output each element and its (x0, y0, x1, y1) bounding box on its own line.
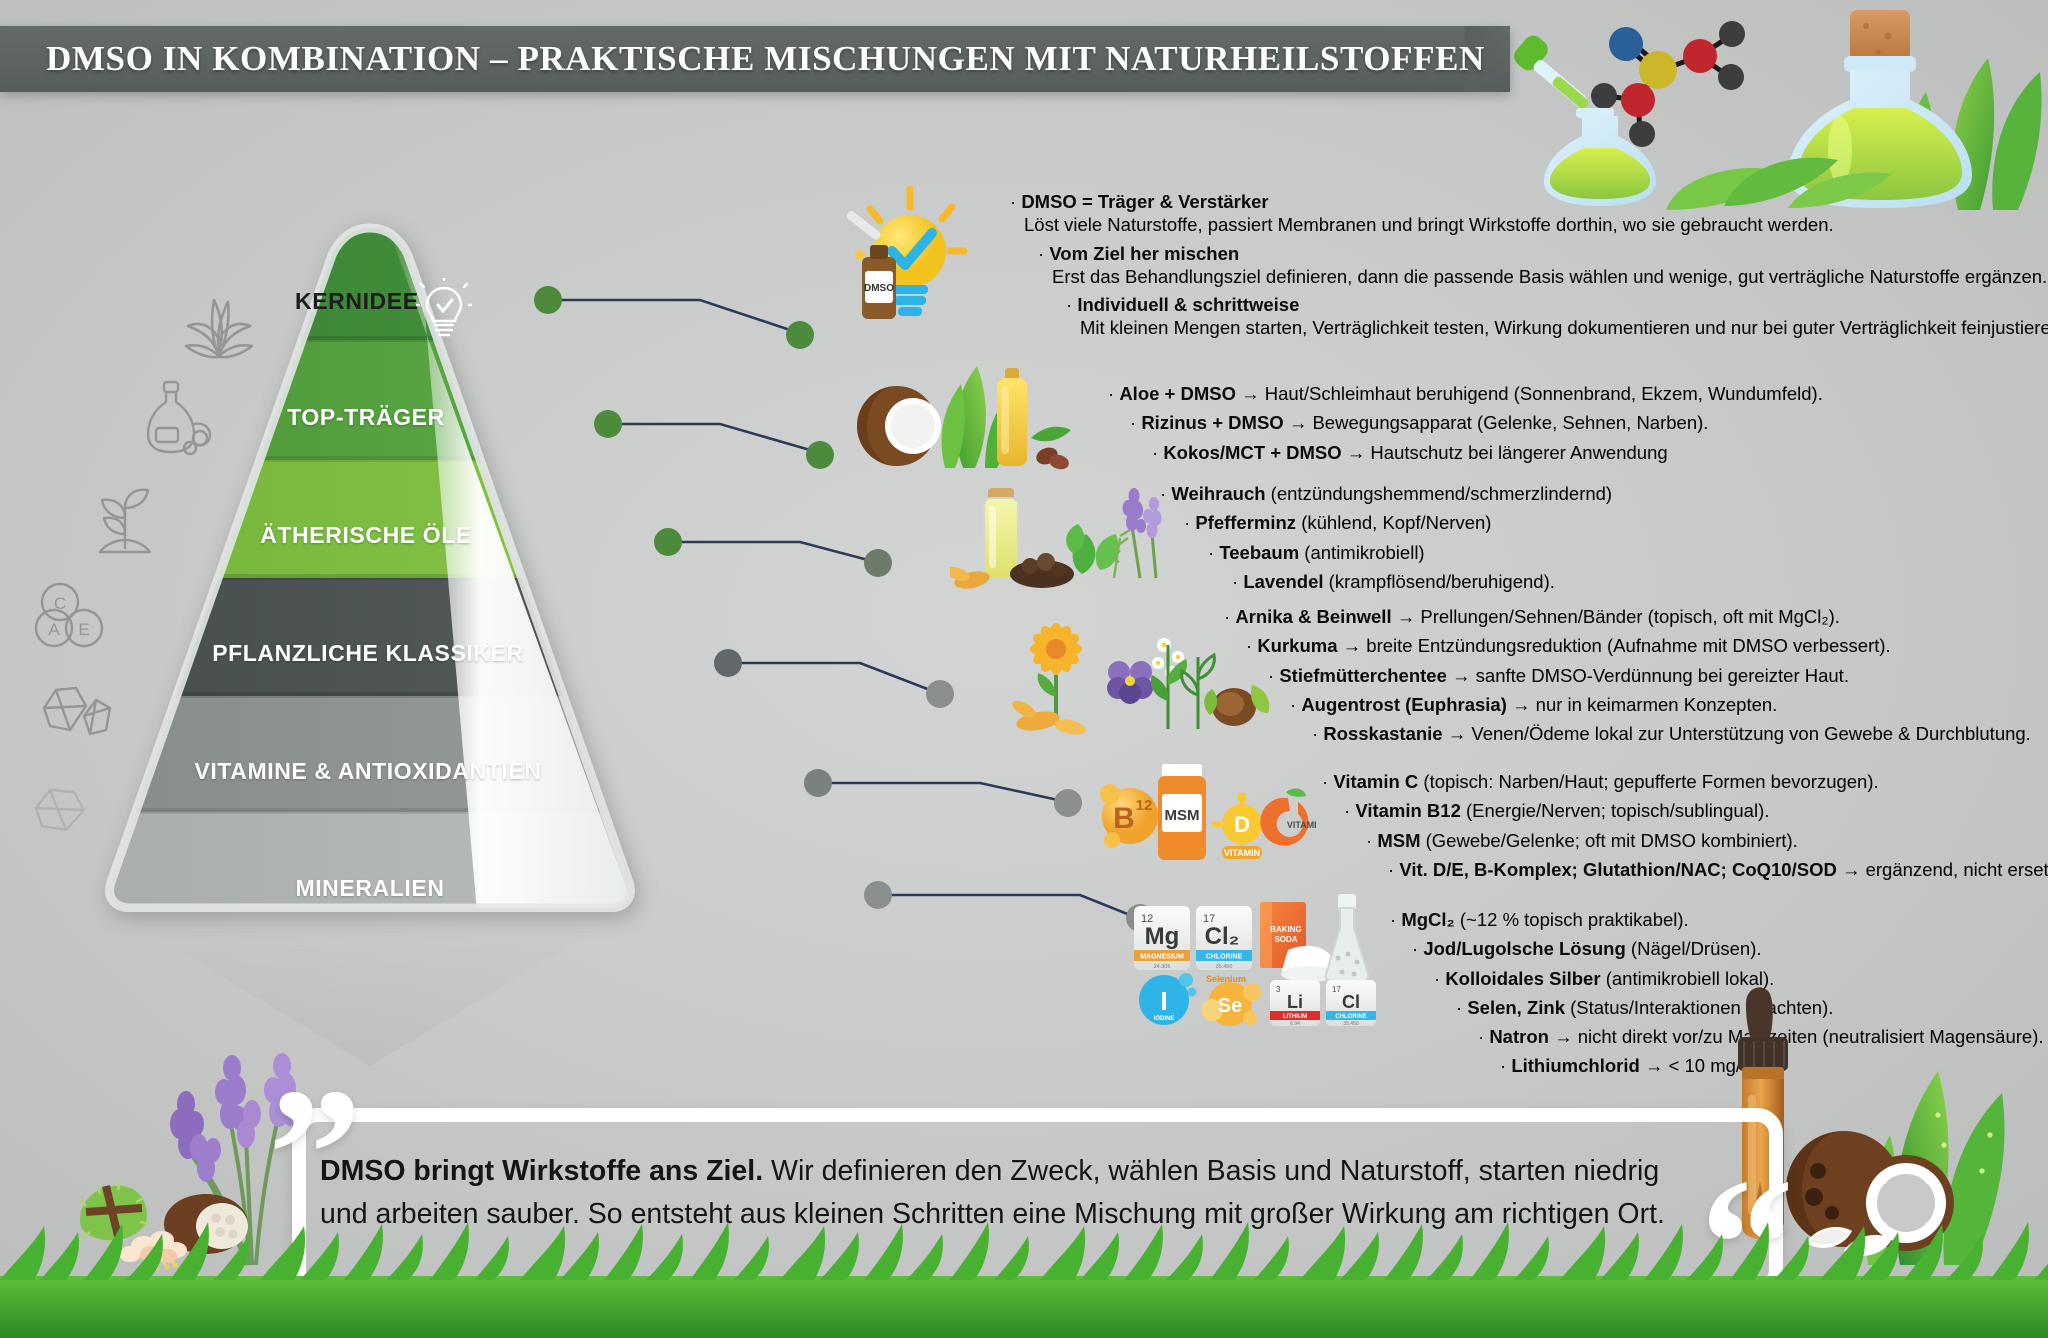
element-card-mg: 12 Mg MAGNESIUM 24.305 (1134, 906, 1190, 970)
svg-text:Cl: Cl (1342, 992, 1360, 1012)
quote-rest: Wir definieren den Zweck, wählen Basis u… (763, 1155, 1659, 1187)
svg-text:A: A (48, 620, 60, 639)
minerals-crystal-faded-icon (28, 780, 108, 851)
svg-text:IODINE: IODINE (1154, 1016, 1175, 1022)
bullet-item: · Aloe + DMSO → Haut/Schleimhaut beruhig… (1108, 382, 1823, 405)
grass-footer (0, 1218, 2048, 1338)
svg-text:Cl₂: Cl₂ (1205, 923, 1240, 950)
svg-text:CHLORINE: CHLORINE (1206, 954, 1243, 961)
svg-text:Se: Se (1218, 995, 1242, 1017)
selenium-icon: Selenium Se (1201, 974, 1261, 1026)
bullet-item: · Rosskastanie → Venen/Ödeme lokal zur U… (1312, 722, 2031, 745)
tier-label-kernidee: KERNIDEE (295, 288, 419, 315)
bullet-title: DMSO = Träger & Verstärker (1021, 191, 1268, 212)
bullet-title: Vitamin B12 (1355, 800, 1461, 821)
tier-label-mineralien: MINERALIEN (260, 875, 480, 902)
infographic-canvas: DMSO IN KOMBINATION – PRAKTISCHE MISCHUN… (0, 0, 2048, 1338)
svg-text:SODA: SODA (1274, 935, 1297, 944)
bullet-item: · Stiefmütterchentee → sanfte DMSO-Verdü… (1268, 664, 2031, 687)
bullet-title: Aloe + DMSO (1119, 383, 1236, 404)
bullet-item: · Teebaum (antimikrobiell) (1208, 541, 1612, 564)
svg-text:LITHIUM: LITHIUM (1283, 1014, 1307, 1020)
erlenmeyer-flask-icon (1326, 894, 1369, 984)
svg-text:B: B (1113, 802, 1135, 835)
minerals-mg-cl-i-se-li-icon: 12 Mg MAGNESIUM 24.305 17 Cl₂ CHLORINE 3… (1130, 888, 1410, 1033)
vitamins-cae-icon: C A E (30, 578, 110, 659)
bullet-title: Pfefferminz (1195, 512, 1296, 533)
bullet-title: Stiefmütterchentee (1279, 665, 1447, 686)
svg-text:DMSO: DMSO (864, 283, 894, 294)
bullet-sub: Löst viele Naturstoffe, passiert Membran… (1024, 213, 2048, 236)
bullet-title: Kurkuma (1257, 635, 1337, 656)
element-card-cl2: 17 Cl₂ CHLORINE 35.450 (1196, 906, 1252, 970)
bullet-title: Weihrauch (1171, 483, 1265, 504)
bullet-title: Rizinus + DMSO (1141, 412, 1283, 433)
bullet-item: · DMSO = Träger & Verstärker (1010, 190, 2048, 213)
bullet-title: Lavendel (1243, 571, 1323, 592)
svg-text:VITAMIN: VITAMIN (1287, 820, 1316, 830)
svg-text:C: C (54, 594, 66, 613)
tier-label-top-traeger: TOP-TRÄGER (246, 404, 486, 431)
bullet-item: · Kurkuma → breite Entzündungsreduktion … (1246, 634, 2031, 657)
bullet-title: MSM (1377, 830, 1420, 851)
bullet-item: · MgCl₂ (~12 % topisch praktikabel). (1390, 908, 2044, 931)
bullet-title: Augentrost (Euphrasia) (1301, 694, 1507, 715)
svg-text:D: D (1234, 812, 1250, 837)
content-block-kernidee: · DMSO = Träger & Verstärker Löst viele … (1010, 190, 2048, 340)
bullet-item: · Arnika & Beinwell → Prellungen/Sehnen/… (1224, 605, 2031, 628)
bullet-rest: (krampflösend/beruhigend). (1324, 571, 1555, 592)
bullet-title: Individuell & schrittweise (1077, 294, 1299, 315)
svg-text:MAGNESIUM: MAGNESIUM (1140, 954, 1184, 961)
bullet-rest: → Haut/Schleimhaut beruhigend (Sonnenbra… (1236, 383, 1823, 404)
svg-text:Mg: Mg (1145, 923, 1180, 950)
lightbulb-check-icon (416, 278, 472, 345)
svg-text:BAKING: BAKING (1270, 925, 1302, 934)
tier-label-vitamine: VITAMINE & ANTIOXIDANTIEN (158, 758, 578, 785)
svg-text:CHLORINE: CHLORINE (1335, 1014, 1366, 1020)
bullet-rest: → Bewegungsapparat (Gelenke, Sehnen, Nar… (1284, 412, 1709, 433)
bullet-title: Vitamin C (1333, 771, 1418, 792)
bullet-rest: → breite Entzündungsreduktion (Aufnahme … (1338, 635, 1891, 656)
iodine-icon: I IODINE (1139, 973, 1197, 1025)
bullet-item: · Pfefferminz (kühlend, Kopf/Nerven) (1184, 511, 1612, 534)
bullet-rest: (Gewebe/Gelenke; oft mit DMSO kombiniert… (1420, 830, 1797, 851)
bullet-item: · MSM (Gewebe/Gelenke; oft mit DMSO komb… (1366, 829, 2048, 852)
svg-text:MSM: MSM (1165, 807, 1200, 824)
svg-text:17: 17 (1332, 985, 1341, 994)
bullet-title: Natron (1489, 1026, 1549, 1047)
bullet-item: · Jod/Lugolsche Lösung (Nägel/Drüsen). (1412, 937, 2044, 960)
minerals-crystal-icon (36, 678, 116, 753)
essential-oil-herbs-icon (950, 482, 1170, 597)
bullet-item: · Rizinus + DMSO → Bewegungsapparat (Gel… (1130, 411, 1823, 434)
bullet-rest: → ergänzend, nicht ersetzend. (1837, 859, 2048, 880)
bullet-item: · Vitamin C (topisch: Narben/Haut; gepuf… (1322, 770, 2048, 793)
bullet-rest: (topisch: Narben/Haut; gepufferte Formen… (1418, 771, 1878, 792)
bullet-rest: (antimikrobiell) (1299, 542, 1424, 563)
content-block-aetherische-oele: · Weihrauch (entzündungshemmend/schmerzl… (1160, 482, 1612, 593)
bullet-rest: → nur in keimarmen Konzepten. (1507, 694, 1777, 715)
svg-text:24.305: 24.305 (1154, 964, 1171, 970)
svg-text:35.450: 35.450 (1216, 964, 1233, 970)
bullet-rest: (Energie/Nerven; topisch/sublingual). (1461, 800, 1770, 821)
pyramid (105, 222, 635, 912)
bullet-sub: Erst das Behandlungsziel definieren, dan… (1052, 265, 2048, 288)
svg-text:6.94: 6.94 (1290, 1021, 1300, 1027)
bullet-title: Rosskastanie (1323, 723, 1442, 744)
svg-text:Li: Li (1287, 992, 1303, 1012)
content-block-top-traeger: · Aloe + DMSO → Haut/Schleimhaut beruhig… (1108, 382, 1823, 464)
tier-label-aetherische-oele: ÄTHERISCHE ÖLE (228, 522, 504, 549)
bullet-item: · Individuell & schrittweise (1066, 293, 2048, 316)
content-block-pflanzliche: · Arnika & Beinwell → Prellungen/Sehnen/… (1224, 605, 2031, 745)
bullet-rest: (Nägel/Drüsen). (1626, 938, 1762, 959)
bullet-title: Arnika & Beinwell (1235, 606, 1391, 627)
bullet-title: Kolloidales Silber (1445, 968, 1600, 989)
svg-text:E: E (78, 620, 89, 639)
vitamins-b12-msm-d-c-icon: B 12 MSM D VITAMIN (1096, 758, 1316, 869)
bullet-item: · Vom Ziel her mischen (1038, 242, 2048, 265)
bullet-rest: → sanfte DMSO-Verdünnung bei gereizter H… (1447, 665, 1849, 686)
bullet-rest: → Prellungen/Sehnen/Bänder (topisch, oft… (1392, 606, 1840, 627)
pyramid-shape (105, 222, 635, 912)
bullet-item: · Kokos/MCT + DMSO → Hautschutz bei läng… (1152, 441, 1823, 464)
bullet-item: · Augentrost (Euphrasia) → nur in keimar… (1290, 693, 2031, 716)
bullet-rest: (~12 % topisch praktikabel). (1455, 909, 1689, 930)
page-title: DMSO IN KOMBINATION – PRAKTISCHE MISCHUN… (46, 30, 1476, 88)
bullet-title: Kokos/MCT + DMSO (1163, 442, 1341, 463)
svg-text:12: 12 (1136, 797, 1153, 814)
bullet-rest: → Venen/Ödeme lokal zur Unterstützung vo… (1443, 723, 2031, 744)
svg-text:35.450: 35.450 (1343, 1021, 1359, 1027)
bullet-title: Teebaum (1219, 542, 1299, 563)
bullet-title: Lithiumchlorid (1511, 1055, 1639, 1076)
bullet-rest: (kühlend, Kopf/Nerven) (1296, 512, 1491, 533)
bullet-title: Vit. D/E, B-Komplex; Glutathion/NAC; CoQ… (1399, 859, 1837, 880)
svg-text:VITAMIN: VITAMIN (1224, 848, 1260, 858)
bullet-title: Jod/Lugolsche Lösung (1423, 938, 1625, 959)
bullet-item: · Weihrauch (entzündungshemmend/schmerzl… (1160, 482, 1612, 505)
coconut-aloe-oil-icon (845, 360, 1075, 475)
bullet-item: · Vit. D/E, B-Komplex; Glutathion/NAC; C… (1388, 858, 2048, 881)
bullet-rest: (entzündungshemmend/schmerzlindernd) (1266, 483, 1613, 504)
bullet-item: · Vitamin B12 (Energie/Nerven; topisch/s… (1344, 799, 2048, 822)
bullet-item: · Lavendel (krampflösend/beruhigend). (1232, 570, 1612, 593)
content-block-vitamine: · Vitamin C (topisch: Narben/Haut; gepuf… (1322, 770, 2048, 881)
bullet-title: Vom Ziel her mischen (1049, 243, 1239, 264)
element-card-cl: 17 Cl CHLORINE 35.450 (1326, 980, 1376, 1027)
svg-text:3: 3 (1276, 985, 1281, 994)
bullet-sub: Mit kleinen Mengen starten, Verträglichk… (1080, 316, 2048, 339)
tier-label-pflanzliche: PFLANZLICHE KLASSIKER (198, 640, 538, 667)
svg-text:I: I (1160, 986, 1167, 1016)
bullet-title: MgCl₂ (1401, 909, 1454, 930)
bullet-rest: → Hautschutz bei längerer Anwendung (1342, 442, 1668, 463)
dmso-bottle-lightbulb-icon: DMSO (840, 185, 980, 340)
bullet-title: Selen, Zink (1467, 997, 1565, 1018)
header-artwork (1488, 0, 2048, 210)
quote-bold: DMSO bringt Wirkstoffe ans Ziel. (320, 1155, 763, 1187)
element-card-li: 3 Li LITHIUM 6.94 (1270, 980, 1320, 1027)
